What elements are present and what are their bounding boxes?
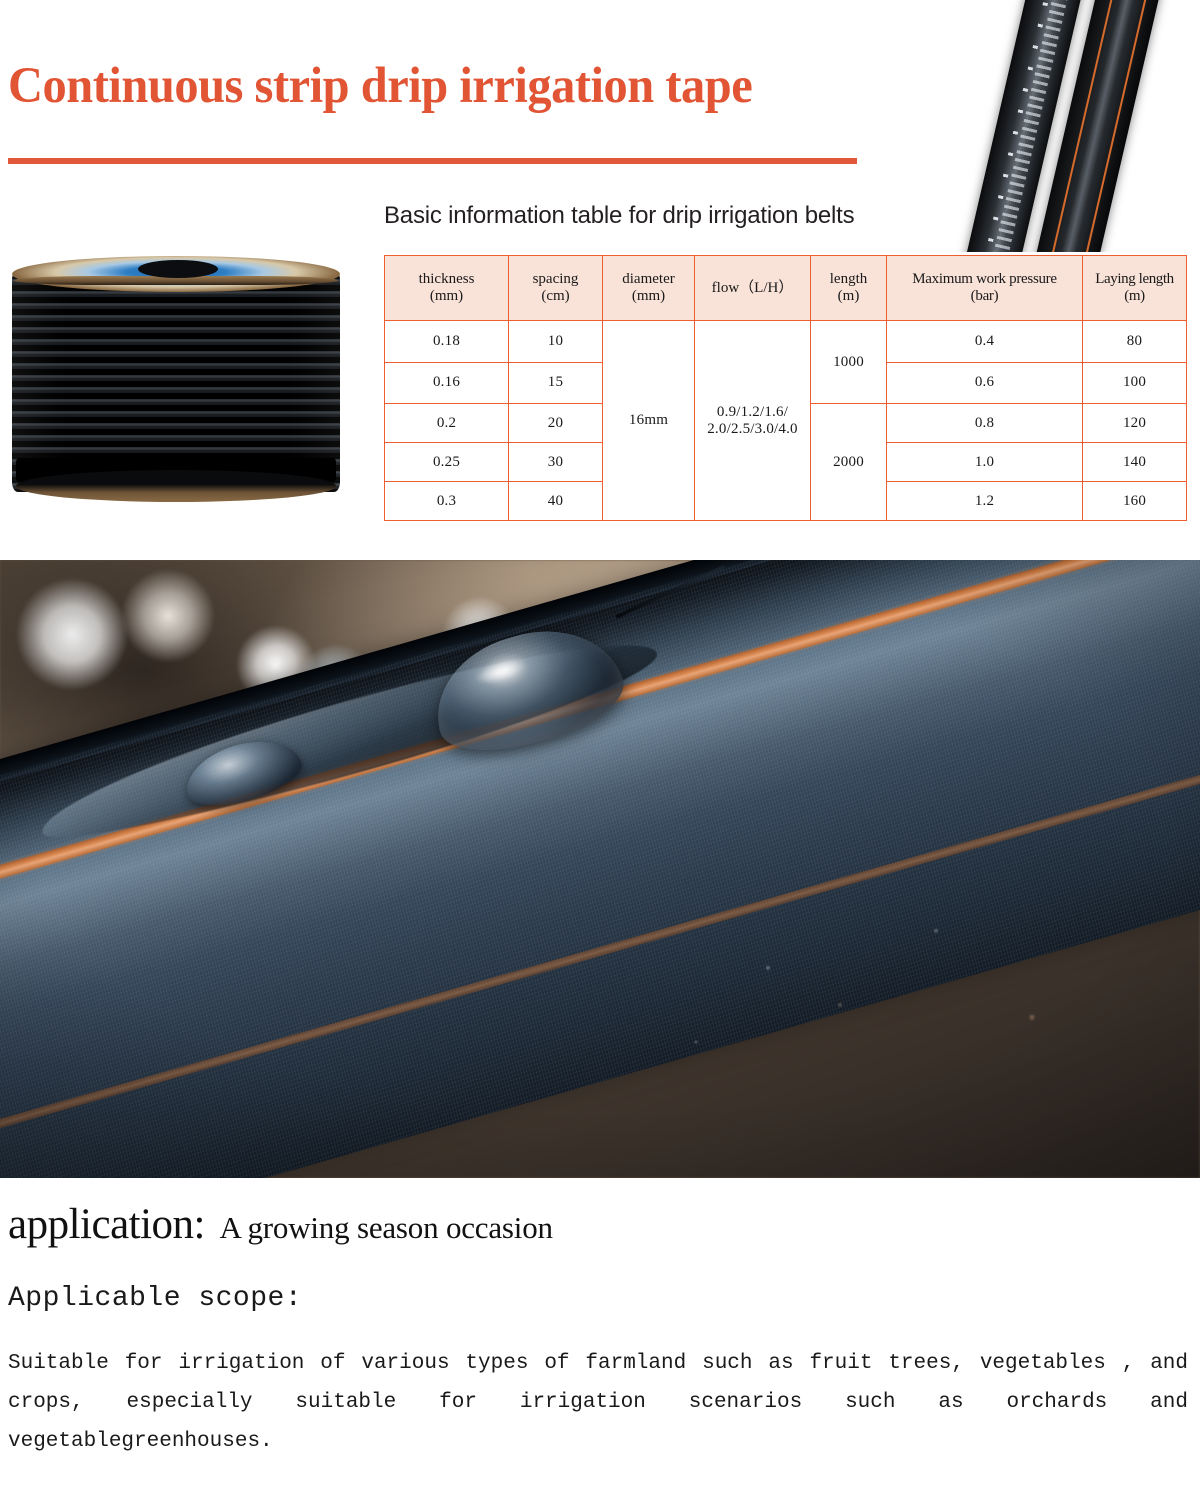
cell-thickness: 0.18 bbox=[385, 321, 509, 363]
column-header-thickness: thickness (mm) bbox=[385, 256, 509, 321]
cell-spacing: 40 bbox=[509, 482, 603, 521]
header-line-2: (cm) bbox=[509, 288, 602, 305]
title-divider-rule bbox=[8, 158, 857, 164]
table-header-row: thickness (mm) spacing (cm) diameter (mm… bbox=[385, 256, 1187, 321]
cell-spacing: 10 bbox=[509, 321, 603, 363]
cell-diameter: 16mm bbox=[603, 321, 695, 521]
water-droplet-on-drip-tape-photo bbox=[0, 560, 1200, 1178]
cell-thickness: 0.25 bbox=[385, 443, 509, 482]
cell-pressure: 1.0 bbox=[887, 443, 1083, 482]
cell-laying-length: 80 bbox=[1083, 321, 1187, 363]
cell-spacing: 15 bbox=[509, 362, 603, 404]
spool-cardboard-rim-bottom bbox=[16, 470, 336, 502]
header-line-1: thickness bbox=[385, 271, 508, 288]
header-line-1: Maximum work pressure bbox=[887, 271, 1082, 288]
flow-line-1: 0.9/1.2/1.6/ bbox=[695, 404, 810, 421]
cell-pressure: 0.6 bbox=[887, 362, 1083, 404]
cell-laying-length: 100 bbox=[1083, 362, 1187, 404]
table-row: 0.18 10 16mm 0.9/1.2/1.6/ 2.0/2.5/3.0/4.… bbox=[385, 321, 1187, 363]
drip-tape-strips-photo bbox=[935, 0, 1200, 252]
header-line-2: (m) bbox=[1083, 288, 1186, 305]
column-header-length: length (m) bbox=[811, 256, 887, 321]
header-line-1: diameter bbox=[603, 271, 694, 288]
header-line-2: (bar) bbox=[887, 288, 1082, 305]
column-header-diameter: diameter (mm) bbox=[603, 256, 695, 321]
cell-length-1000: 1000 bbox=[811, 321, 887, 404]
cell-pressure: 0.8 bbox=[887, 404, 1083, 443]
application-row: application: A growing season occasion bbox=[8, 1200, 553, 1249]
spec-table-heading: Basic information table for drip irrigat… bbox=[384, 202, 854, 230]
applicable-scope-label: Applicable scope: bbox=[8, 1283, 302, 1314]
cell-thickness: 0.2 bbox=[385, 404, 509, 443]
cell-length-2000: 2000 bbox=[811, 404, 887, 521]
cell-thickness: 0.16 bbox=[385, 362, 509, 404]
header-line-2: (mm) bbox=[603, 288, 694, 305]
surface-sparkles bbox=[0, 560, 1200, 1178]
header-line-1: length bbox=[811, 271, 886, 288]
spool-center-hole bbox=[138, 260, 218, 278]
cell-laying-length: 120 bbox=[1083, 404, 1187, 443]
cell-pressure: 0.4 bbox=[887, 321, 1083, 363]
cell-spacing: 20 bbox=[509, 404, 603, 443]
column-header-flow: flow（L/H） bbox=[695, 256, 811, 321]
drip-belt-spec-table: thickness (mm) spacing (cm) diameter (mm… bbox=[384, 255, 1187, 521]
drip-tape-spool-photo bbox=[6, 252, 346, 510]
application-value: A growing season occasion bbox=[219, 1210, 552, 1245]
cell-flow: 0.9/1.2/1.6/ 2.0/2.5/3.0/4.0 bbox=[695, 321, 811, 521]
page-title: Continuous strip drip irrigation tape bbox=[8, 57, 752, 115]
header-line-1: Laying length bbox=[1083, 271, 1186, 288]
header-line-2: (m) bbox=[811, 288, 886, 305]
column-header-spacing: spacing (cm) bbox=[509, 256, 603, 321]
application-label: application: bbox=[8, 1201, 205, 1248]
header-line-2: (mm) bbox=[385, 288, 508, 305]
cell-laying-length: 140 bbox=[1083, 443, 1187, 482]
cell-pressure: 1.2 bbox=[887, 482, 1083, 521]
cell-spacing: 30 bbox=[509, 443, 603, 482]
column-header-laying-length: Laying length (m) bbox=[1083, 256, 1187, 321]
cell-laying-length: 160 bbox=[1083, 482, 1187, 521]
flow-line-2: 2.0/2.5/3.0/4.0 bbox=[695, 421, 810, 438]
header-line-1: flow（L/H） bbox=[695, 280, 810, 297]
header-line-1: spacing bbox=[509, 271, 602, 288]
applicable-scope-body: Suitable for irrigation of various types… bbox=[8, 1344, 1188, 1461]
column-header-max-work-pressure: Maximum work pressure (bar) bbox=[887, 256, 1083, 321]
spec-table-container: thickness (mm) spacing (cm) diameter (mm… bbox=[384, 255, 1186, 521]
cell-thickness: 0.3 bbox=[385, 482, 509, 521]
